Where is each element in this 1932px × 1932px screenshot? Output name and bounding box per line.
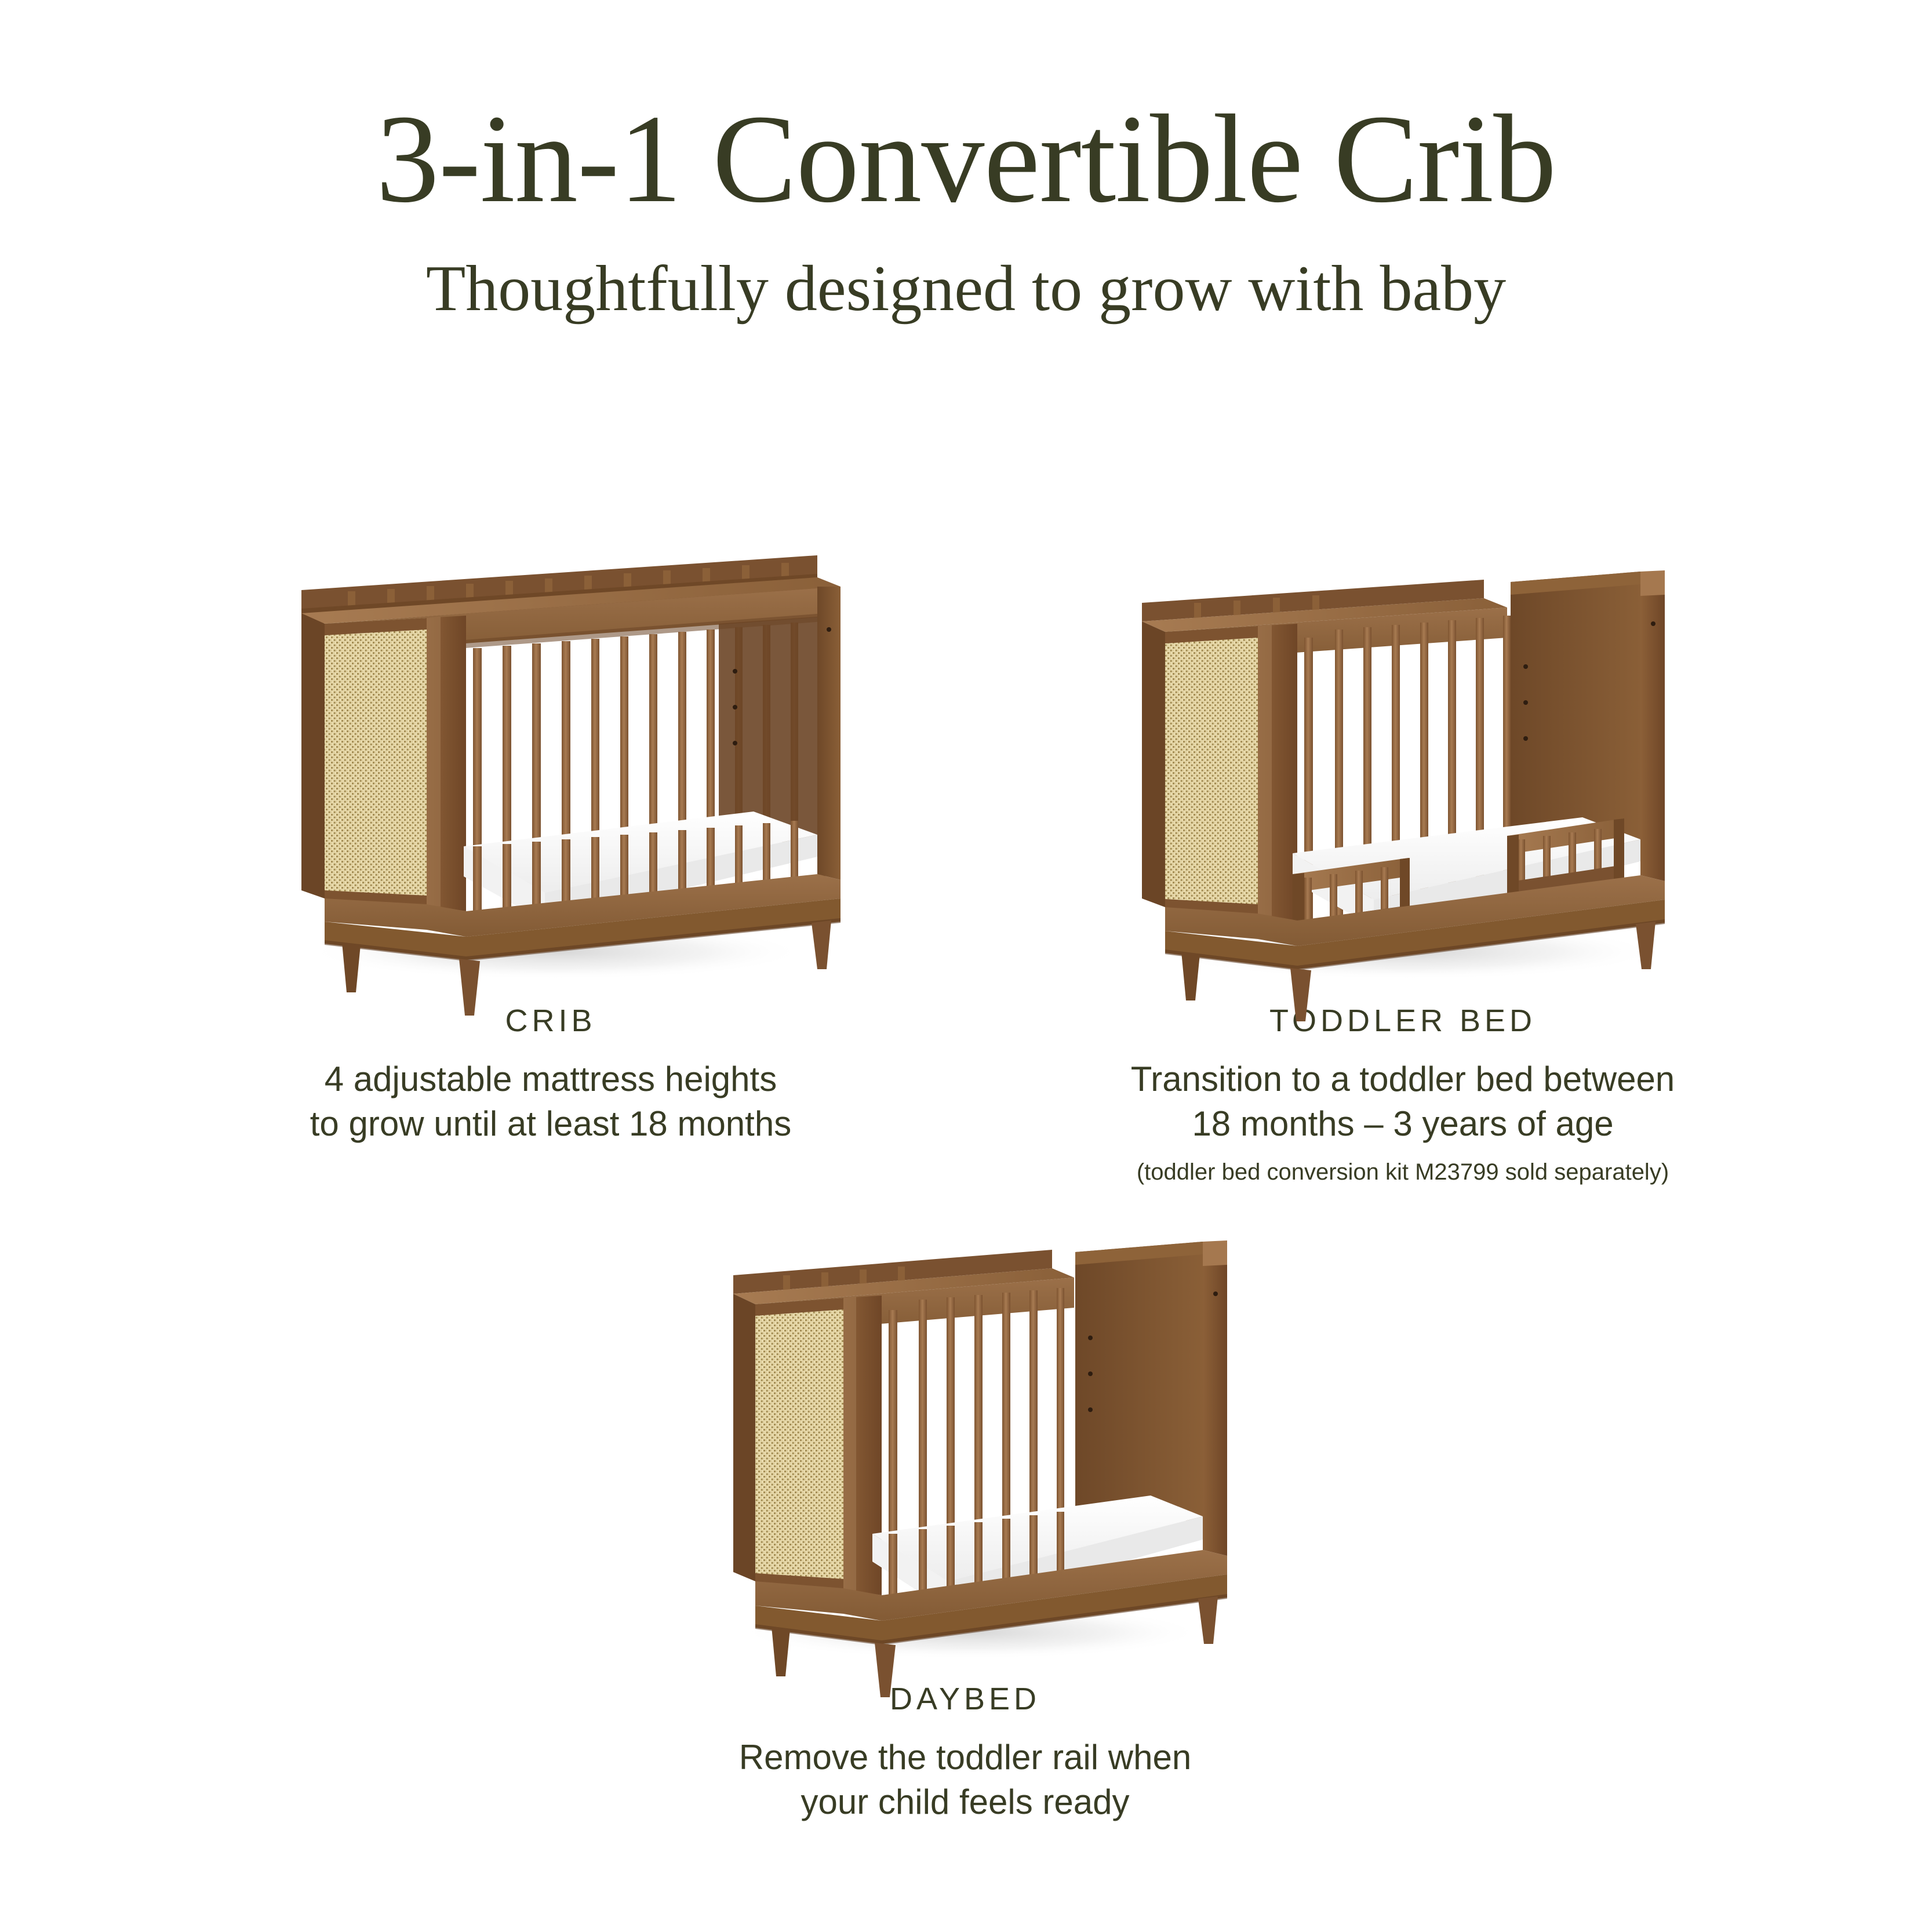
daybed-description: Remove the toddler rail when your child … xyxy=(496,1735,1435,1825)
crib-caption: CRIB 4 adjustable mattress heights to gr… xyxy=(110,1003,991,1147)
daybed-right-corner-post xyxy=(1203,1240,1227,1556)
toddler-bed-image xyxy=(1084,522,1722,1003)
daybed-illustration xyxy=(670,1194,1261,1681)
daybed-caption: DAYBED Remove the toddler rail when your… xyxy=(496,1681,1435,1825)
toddler-cane-end-panel xyxy=(1142,621,1258,915)
daybed-cane-end-panel xyxy=(733,1294,843,1589)
crib-cane-end-panel xyxy=(301,613,427,905)
toddler-headboard-panel xyxy=(1511,572,1640,846)
leg-front-right xyxy=(1198,1596,1218,1644)
toddler-bed-description-line-2: 18 months – 3 years of age xyxy=(951,1102,1855,1147)
daybed-description-line-2: your child feels ready xyxy=(496,1780,1435,1825)
leg-front-left xyxy=(1181,952,1200,1000)
crib-description: 4 adjustable mattress heights to grow un… xyxy=(110,1057,991,1147)
toddler-left-corner-post xyxy=(1258,624,1297,920)
crib-label: CRIB xyxy=(110,1003,991,1039)
product-panel-crib: CRIB 4 adjustable mattress heights to gr… xyxy=(110,522,991,1147)
crib-description-line-1: 4 adjustable mattress heights xyxy=(110,1057,991,1102)
crib-left-corner-post xyxy=(427,616,466,911)
page-subtitle: Thoughtfully designed to grow with baby xyxy=(0,256,1932,321)
page-title: 3-in-1 Convertible Crib xyxy=(0,96,1932,223)
toddler-bed-note: (toddler bed conversion kit M23799 sold … xyxy=(951,1157,1855,1187)
infographic-page: 3-in-1 Convertible Crib Thoughtfully des… xyxy=(0,0,1932,1932)
crib-description-line-2: to grow until at least 18 months xyxy=(110,1102,991,1147)
toddler-right-corner-post xyxy=(1640,570,1665,881)
crib-illustration xyxy=(232,522,869,1003)
daybed-headboard-panel xyxy=(1075,1242,1203,1522)
header: 3-in-1 Convertible Crib Thoughtfully des… xyxy=(0,0,1932,321)
toddler-bed-description-line-1: Transition to a toddler bed between xyxy=(951,1057,1855,1102)
daybed-image xyxy=(670,1194,1261,1681)
daybed-label: DAYBED xyxy=(496,1681,1435,1717)
toddler-bed-description: Transition to a toddler bed between 18 m… xyxy=(951,1057,1855,1147)
product-panel-toddler-bed: TODDLER BED Transition to a toddler bed … xyxy=(951,522,1855,1187)
crib-right-corner-post xyxy=(817,587,841,880)
leg-front-right xyxy=(812,920,831,969)
toddler-bed-label: TODDLER BED xyxy=(951,1003,1855,1039)
crib-image xyxy=(232,522,869,1003)
crib-right-end-panel xyxy=(719,617,817,846)
toddler-bed-caption: TODDLER BED Transition to a toddler bed … xyxy=(951,1003,1855,1187)
leg-front-left xyxy=(342,943,361,992)
leg-front-left xyxy=(772,1627,790,1676)
daybed-description-line-1: Remove the toddler rail when xyxy=(496,1735,1435,1780)
toddler-bed-illustration xyxy=(1084,522,1722,1003)
product-panel-daybed: DAYBED Remove the toddler rail when your… xyxy=(496,1194,1435,1825)
